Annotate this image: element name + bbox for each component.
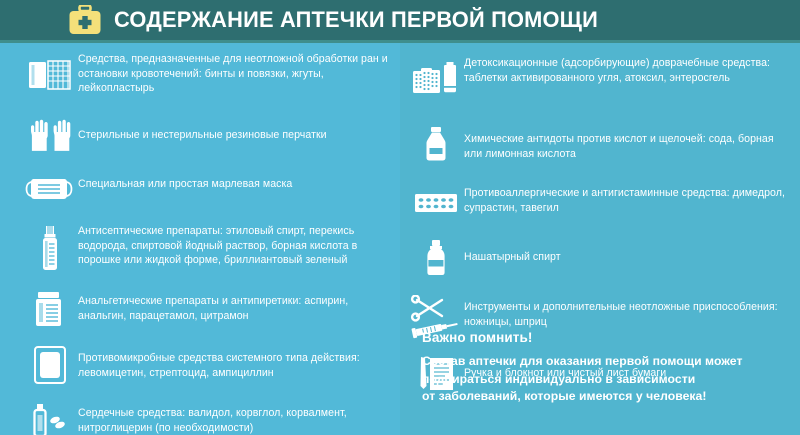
list-item-text: Химические антидоты против кислот и щело… (464, 122, 792, 161)
list-item: Детоксикационные (адсорбирующие) довраче… (408, 54, 792, 108)
medicine-sachet-icon (22, 342, 78, 388)
pill-jar-icon (22, 286, 78, 332)
list-item: Антисептические препараты: этиловый спир… (22, 222, 394, 276)
drops-bottle-icon (22, 398, 78, 435)
list-item-text: Нашатырный спирт (464, 236, 792, 265)
left-column: Средства, предназначенные для неотложной… (22, 48, 394, 435)
header-accent-line (0, 40, 800, 43)
page-title: СОДЕРЖАНИЕ АПТЕЧКИ ПЕРВОЙ ПОМОЩИ (114, 7, 598, 33)
note-line-1: Состав аптечки для оказания первой помощ… (422, 353, 792, 371)
list-item: Нашатырный спирт (408, 236, 792, 282)
list-item-text: Инструменты и дополнительные неотложные … (464, 292, 792, 329)
bandage-roll-and-gauze-icon (22, 50, 78, 100)
list-item: Химические антидоты против кислот и щело… (408, 122, 792, 168)
note-line-3: от заболеваний, которые имеются у челове… (422, 388, 792, 406)
list-item: Стерильные и нестерильные резиновые перч… (22, 110, 394, 156)
list-item: Анальгетические препараты и антипиретики… (22, 286, 394, 332)
antiseptic-bottle-icon (22, 222, 78, 276)
ammonia-bottle-icon (408, 236, 464, 282)
list-item: Противомикробные средства системного тип… (22, 342, 394, 388)
list-item: Противоаллергические и антигистаминные с… (408, 180, 792, 226)
list-item-text: Анальгетические препараты и антипиретики… (78, 286, 394, 323)
rubber-gloves-icon (22, 110, 78, 156)
note-body: Состав аптечки для оказания первой помощ… (422, 353, 792, 406)
list-item-text: Противоаллергические и антигистаминные с… (464, 180, 792, 215)
note-title: Важно помнить! (422, 330, 792, 345)
list-item-text: Сердечные средства: валидол, корвглол, к… (78, 398, 394, 435)
list-item: Средства, предназначенные для неотложной… (22, 50, 394, 100)
list-item: Сердечные средства: валидол, корвглол, к… (22, 398, 394, 435)
note-line-2: подбираться индивидуально в зависимости (422, 371, 792, 389)
face-mask-icon (22, 166, 78, 212)
list-item-text: Стерильные и нестерильные резиновые перч… (78, 110, 394, 143)
list-item: Специальная или простая марлевая маска (22, 166, 394, 212)
list-item-text: Средства, предназначенные для неотложной… (78, 50, 394, 96)
infographic-poster: СОДЕРЖАНИЕ АПТЕЧКИ ПЕРВОЙ ПОМОЩИ (0, 0, 800, 435)
list-item-text: Детоксикационные (адсорбирующие) довраче… (464, 54, 792, 85)
important-note: Важно помнить! Состав аптечки для оказан… (422, 330, 792, 406)
list-item-text: Специальная или простая марлевая маска (78, 166, 394, 192)
chemical-bottle-icon (408, 122, 464, 168)
header-bar: СОДЕРЖАНИЕ АПТЕЧКИ ПЕРВОЙ ПОМОЩИ (0, 0, 800, 40)
blister-packs-and-tube-icon (408, 54, 464, 108)
first-aid-kit-icon (68, 5, 102, 35)
list-item-text: Антисептические препараты: этиловый спир… (78, 222, 394, 268)
tablet-sheet-icon (408, 180, 464, 226)
list-item-text: Противомикробные средства системного тип… (78, 342, 394, 380)
